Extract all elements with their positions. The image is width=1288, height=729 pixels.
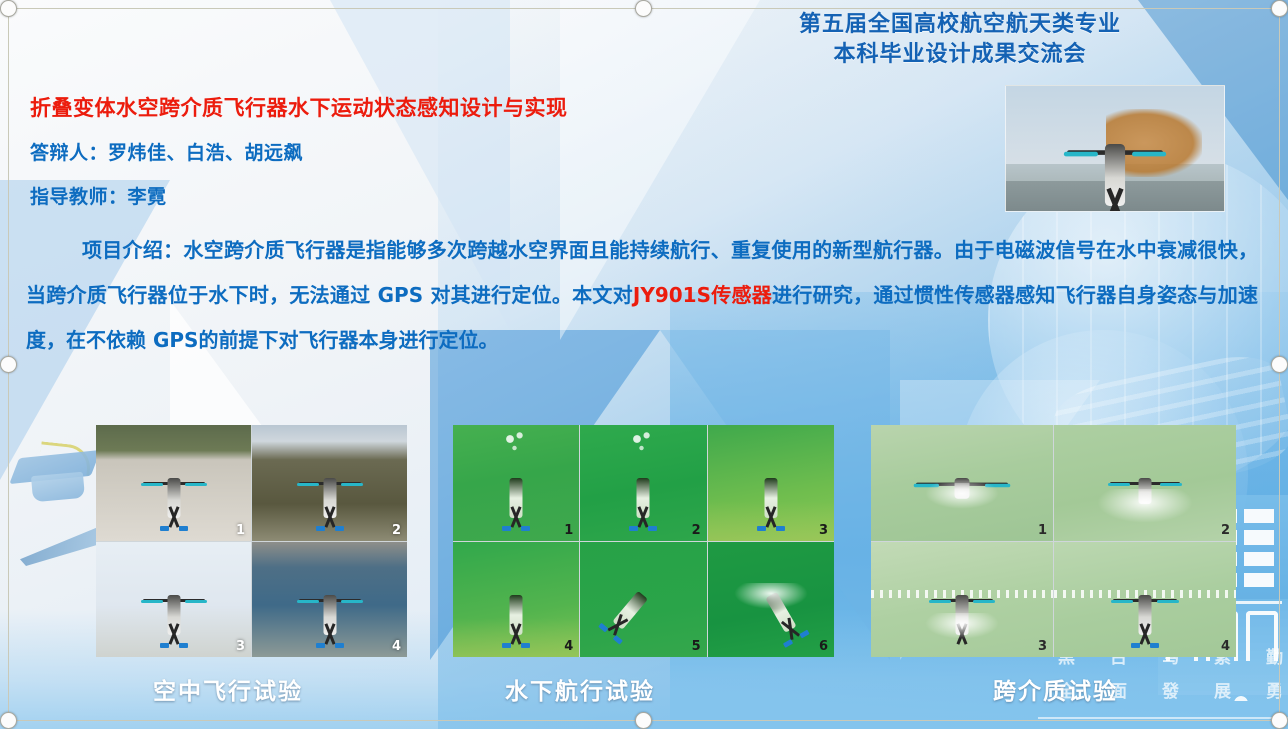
project-introduction-paragraph: 项目介绍：水空跨介质飞行器是指能够多次跨越水空界面且能持续航行、重复使用的新型航… [26, 228, 1258, 363]
caption-aerial-flight: 空中飞行试验 [153, 672, 303, 706]
bubbles-icon [501, 430, 531, 460]
resize-handle-middle-left[interactable] [0, 356, 17, 373]
water-splash [925, 483, 999, 509]
cross-medium-photo-cell: 1 [871, 425, 1053, 541]
drone-propeller-right [1132, 151, 1166, 156]
drone-foot-right [776, 526, 785, 531]
photo-number: 2 [692, 523, 701, 538]
cross-medium-photo-cell: 2 [1054, 425, 1236, 541]
underwater-photo-panel: 1 2 [453, 425, 834, 657]
cross-medium-photo-panel: 1 2 3 [871, 425, 1236, 657]
drone-foot-left [502, 643, 511, 648]
aerial-photo-cell: 1 [96, 425, 251, 541]
photo-number: 3 [819, 523, 828, 538]
drone-propeller-right [341, 600, 363, 603]
aerial-photo-cell: 2 [252, 425, 407, 541]
resize-handle-bottom-right[interactable] [1271, 712, 1288, 729]
page-title: 折叠变体水空跨介质飞行器水下运动状态感知设计与实现 [30, 92, 568, 122]
drone-foot-left [316, 643, 325, 648]
drone-propeller-right [973, 600, 995, 603]
underwater-photo-cell: 2 [580, 425, 706, 541]
water-splash [1097, 489, 1193, 523]
photo-number: 2 [392, 523, 401, 538]
drone-foot-left [629, 526, 638, 531]
motto-underline [1038, 717, 1288, 719]
photo-number: 1 [1038, 523, 1047, 538]
drone-foot-right [1150, 643, 1159, 648]
resize-handle-top-left[interactable] [0, 0, 17, 17]
cross-medium-photo-grid: 1 2 3 [871, 425, 1236, 657]
drone-foot-right [335, 643, 344, 648]
resize-handle-bottom-center[interactable] [635, 712, 652, 729]
drone-propeller-left [141, 483, 163, 486]
drone-propeller-left [929, 600, 951, 603]
cross-medium-photo-cell: 3 [871, 542, 1053, 658]
drone-propeller-left [297, 600, 319, 603]
conference-header: 第五届全国高校航空航天类专业 本科毕业设计成果交流会 [760, 10, 1160, 70]
caption-cross-medium: 跨介质试验 [993, 672, 1118, 706]
drone-foot-right [648, 526, 657, 531]
header-line-2: 本科毕业设计成果交流会 [760, 40, 1160, 70]
drone-foot-right [521, 526, 530, 531]
building-window [1244, 530, 1274, 544]
aerial-photo-grid: 1 2 [96, 425, 407, 657]
aerial-photo-cell: 4 [252, 542, 407, 658]
resize-handle-top-center[interactable] [635, 0, 652, 17]
drone-propeller-right [341, 483, 363, 486]
aerial-photo-cell: 3 [96, 542, 251, 658]
resize-handle-middle-right[interactable] [1271, 356, 1288, 373]
photo-number: 2 [1221, 523, 1230, 538]
building-window [1244, 552, 1274, 566]
cross-medium-photo-cell: 4 [1054, 542, 1236, 658]
resize-handle-top-right[interactable] [1271, 0, 1288, 17]
drone-foot-right [521, 643, 530, 648]
photo-number: 5 [692, 639, 701, 654]
bubbles-icon [628, 430, 658, 460]
header-line-1: 第五届全国高校航空航天类专业 [760, 10, 1160, 40]
photo-number: 3 [236, 639, 245, 654]
drone-propeller-left [1111, 600, 1133, 603]
resize-handle-bottom-left[interactable] [0, 712, 17, 729]
drone-foot-left [160, 526, 169, 531]
cap-crown [31, 472, 85, 502]
aerial-flight-photo-panel: 1 2 [96, 425, 407, 657]
advisor-line: 指导教师：李霓 [30, 182, 167, 209]
drone-foot-right [799, 629, 809, 638]
drone-foot-right [335, 526, 344, 531]
drone-foot-right [613, 635, 623, 645]
bubble-cloud [734, 583, 808, 609]
drone-foot-right [179, 643, 188, 648]
underwater-photo-cell: 3 [708, 425, 834, 541]
drone-propeller-left [1064, 151, 1098, 156]
drone-propeller-right [185, 600, 207, 603]
drone-propeller-left [1108, 483, 1130, 486]
drone-foot-left [783, 639, 793, 648]
drone-foot-left [502, 526, 511, 531]
hero-drone-photo [1005, 85, 1225, 212]
photo-number: 4 [1221, 639, 1230, 654]
photo-number: 3 [1038, 639, 1047, 654]
drone-foot-left [316, 526, 325, 531]
underwater-photo-cell: 5 [580, 542, 706, 658]
drone-foot-left [1131, 643, 1140, 648]
photo-number: 1 [236, 523, 245, 538]
underwater-photo-cell: 6 [708, 542, 834, 658]
photo-number: 1 [564, 523, 573, 538]
drone-propeller-right [185, 483, 207, 486]
caption-underwater: 水下航行试验 [505, 672, 655, 706]
drone-foot-left [599, 622, 609, 632]
underwater-photo-grid: 1 2 [453, 425, 834, 657]
water-splash [925, 613, 999, 639]
drone-foot-left [757, 526, 766, 531]
underwater-photo-cell: 1 [453, 425, 579, 541]
building-window [1244, 509, 1274, 523]
presenter-line: 答辩人：罗炜佳、白浩、胡远飙 [30, 138, 303, 165]
presentation-slide: 黑 古 笃 素 勤 全 面 發 展 勇 第五届全国高校航空航天类专业 本科毕业设… [0, 0, 1288, 729]
photo-number: 6 [819, 639, 828, 654]
drone-propeller-right [1160, 483, 1182, 486]
photo-number: 4 [392, 639, 401, 654]
drone-propeller-left [297, 483, 319, 486]
sensor-highlight: JY901S传感器 [633, 283, 772, 307]
drone-propeller-left [141, 600, 163, 603]
drone-foot-left [160, 643, 169, 648]
building-window [1244, 573, 1274, 587]
drone-foot-right [179, 526, 188, 531]
drone-propeller-right [1157, 600, 1179, 603]
photo-number: 4 [564, 639, 573, 654]
underwater-photo-cell: 4 [453, 542, 579, 658]
